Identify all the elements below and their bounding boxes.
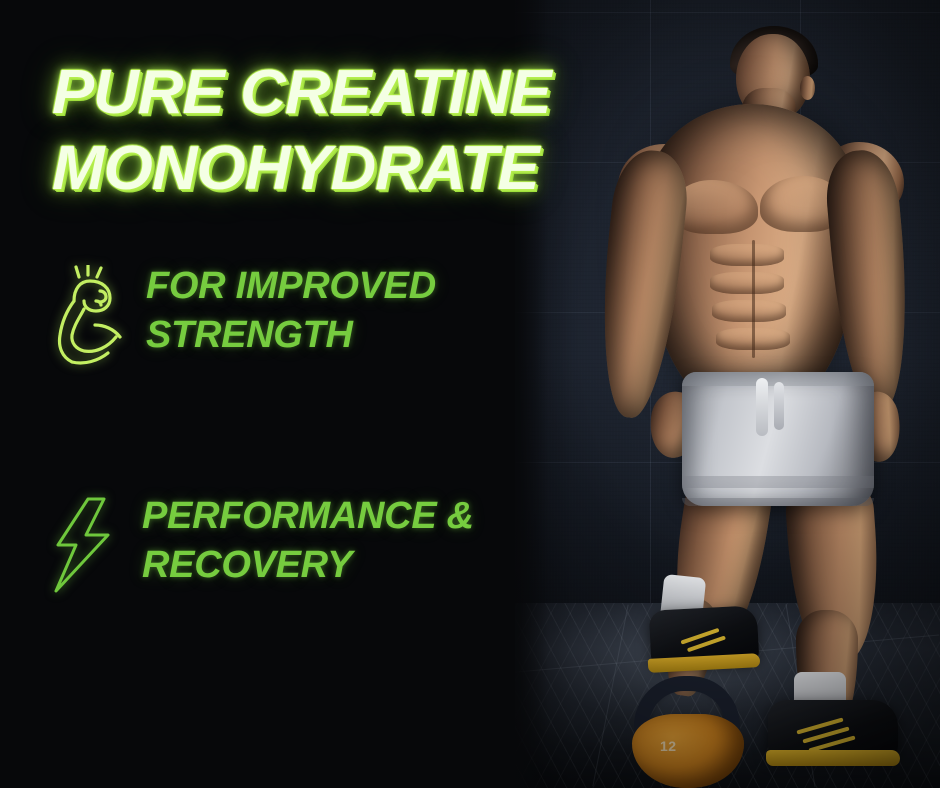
shorts-hem — [682, 476, 874, 488]
athlete-abs — [710, 244, 784, 266]
floor-seam — [592, 605, 628, 787]
kettlebell-weight-label: 12 — [660, 738, 677, 754]
banner-canvas: 12 Muscular shirtless male athlete stand… — [0, 0, 940, 788]
benefit-label-strength: FOR IMPROVED STRENGTH — [146, 262, 436, 360]
shorts-hem — [682, 498, 874, 506]
athlete-ear — [800, 76, 815, 100]
flexed-bicep-icon — [52, 262, 132, 367]
lightning-bolt-icon — [48, 492, 128, 597]
athlete-abs — [712, 300, 786, 322]
athlete-linea-alba — [752, 240, 755, 358]
shorts-drawstring — [756, 378, 768, 436]
right-shoe-sole — [766, 750, 900, 766]
athlete-abs — [710, 272, 784, 294]
athlete-shorts — [682, 372, 874, 506]
page-title: PURE CREATINE MONOHYDRATE — [52, 55, 522, 207]
benefit-item-strength: FOR IMPROVED STRENGTH — [52, 262, 436, 367]
shorts-drawstring — [774, 382, 784, 430]
benefit-item-performance: PERFORMANCE & RECOVERY — [48, 492, 474, 597]
benefit-label-performance: PERFORMANCE & RECOVERY — [142, 492, 474, 590]
title-line-1: PURE CREATINE — [52, 55, 531, 131]
title-line-2: MONOHYDRATE — [52, 131, 531, 207]
